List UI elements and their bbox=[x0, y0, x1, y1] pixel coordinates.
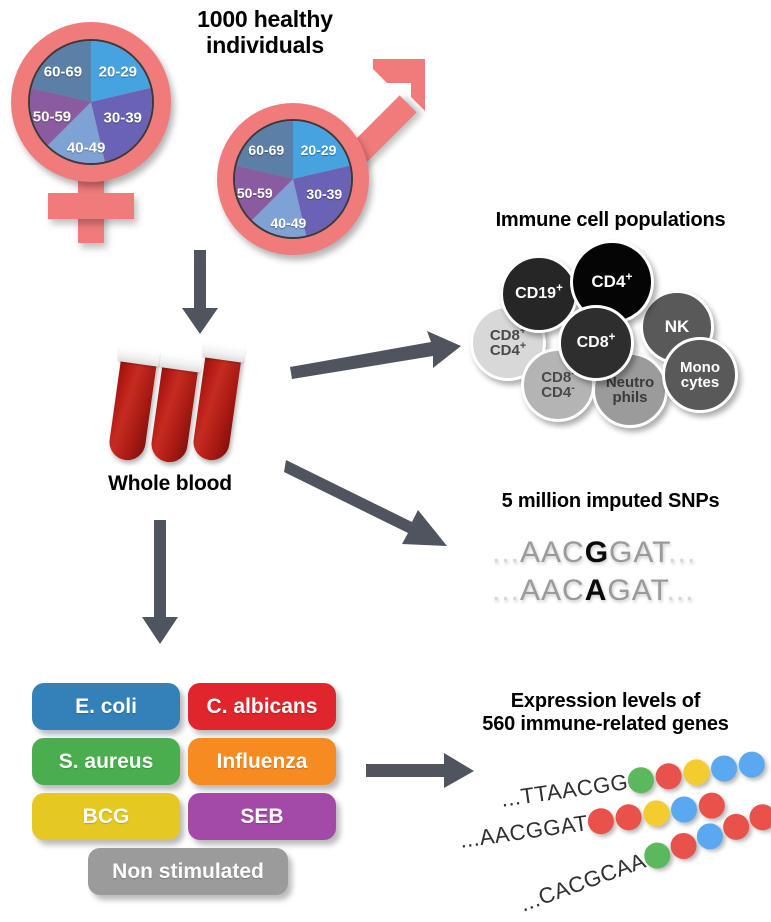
expression-title-line2: 560 immune-related genes bbox=[440, 713, 771, 736]
immune-cell-cd8pos-cd4pos: CD8+CD4+ bbox=[470, 305, 546, 381]
rna-strand-sequence: ...CACGCAA bbox=[516, 848, 649, 918]
immune-cell-label: CD8+CD4+ bbox=[490, 328, 526, 359]
blood-tube-body bbox=[107, 355, 157, 462]
snp-suffix: ... bbox=[667, 574, 695, 607]
rna-bead bbox=[667, 829, 700, 862]
stimulus-non-stimulated[interactable]: Non stimulated bbox=[88, 848, 288, 895]
study-design-figure: 1000 healthy individuals 20-29 30-39 40-… bbox=[0, 0, 771, 922]
stimulus-e-coli[interactable]: E. coli bbox=[32, 683, 180, 730]
rna-bead bbox=[626, 766, 655, 795]
snp-sequence-row: ...AACGGAT... bbox=[492, 536, 696, 570]
snp-prefix: ... bbox=[492, 536, 520, 569]
immune-cell-cd8neg-cd4neg: CD8-CD4- bbox=[521, 348, 595, 422]
arrow-stimuli-to-expression bbox=[366, 753, 476, 789]
immune-cell-label: CD8-CD4- bbox=[541, 370, 575, 401]
arrow-cohort-to-blood bbox=[180, 250, 220, 335]
immune-cell-monocytes: Monocytes bbox=[662, 337, 738, 413]
immune-cell-cd19pos: CD19+ bbox=[500, 255, 578, 333]
rna-bead bbox=[586, 807, 615, 836]
rna-strand-sequence: ...AACGGAT bbox=[458, 810, 590, 854]
rna-bead bbox=[737, 750, 766, 779]
snp-variant-allele: A bbox=[585, 574, 608, 607]
male-age-pie-chart: 20-29 30-39 40-49 50-59 60-69 bbox=[233, 119, 353, 239]
immune-cell-cd8pos: CD8+ bbox=[558, 305, 634, 381]
pie-label-60-69: 60-69 bbox=[44, 63, 82, 80]
snp-right: GAT bbox=[607, 574, 666, 607]
snp-variant-allele: G bbox=[585, 536, 609, 569]
pie-label-50-59: 50-59 bbox=[237, 185, 273, 201]
immune-cell-label: Neutrophils bbox=[606, 375, 654, 406]
pie-label-20-29: 20-29 bbox=[301, 142, 337, 158]
immune-cell-label: NK bbox=[665, 318, 690, 335]
immune-cells-title: Immune cell populations bbox=[450, 209, 771, 232]
snp-suffix: ... bbox=[668, 536, 696, 569]
stimulus-s-aureus[interactable]: S. aureus bbox=[32, 738, 180, 785]
expression-title: Expression levels of 560 immune-related … bbox=[440, 690, 771, 736]
snp-sequence-row: ...AACAGAT... bbox=[492, 574, 695, 608]
stimulus-seb[interactable]: SEB bbox=[188, 793, 336, 840]
snp-right: GAT bbox=[609, 536, 668, 569]
immune-cell-label: CD19+ bbox=[515, 286, 563, 302]
stimulus-influenza[interactable]: Influenza bbox=[188, 738, 336, 785]
pie-label-20-29: 20-29 bbox=[99, 63, 137, 80]
pie-label-50-59: 50-59 bbox=[33, 108, 71, 125]
expression-title-line1: Expression levels of bbox=[440, 690, 771, 713]
rna-bead bbox=[669, 795, 698, 824]
immune-cell-label: CD4+ bbox=[591, 273, 632, 290]
arrow-blood-to-stimuli bbox=[140, 520, 180, 645]
rna-bead bbox=[654, 762, 683, 791]
rna-sequence-text: ...AACGGAT bbox=[458, 810, 590, 853]
immune-cell-cd4pos: CD4+ bbox=[570, 240, 654, 324]
rna-bead bbox=[693, 820, 726, 853]
pie-label-30-39: 30-39 bbox=[306, 186, 342, 202]
rna-bead bbox=[709, 754, 738, 783]
pie-label-40-49: 40-49 bbox=[67, 140, 105, 157]
rna-bead bbox=[746, 801, 771, 834]
female-gender-symbol: 20-29 30-39 40-49 50-59 60-69 bbox=[0, 8, 210, 243]
pie-label-30-39: 30-39 bbox=[104, 109, 142, 126]
snp-left: AAC bbox=[520, 574, 585, 607]
snp-prefix: ... bbox=[492, 574, 520, 607]
blood-tube-body bbox=[149, 361, 198, 464]
whole-blood-label: Whole blood bbox=[80, 472, 260, 496]
rna-bead bbox=[642, 799, 671, 828]
rna-bead bbox=[719, 810, 752, 843]
male-gender-symbol: 20-29 30-39 40-49 50-59 60-69 bbox=[205, 75, 435, 265]
pie-label-60-69: 60-69 bbox=[248, 142, 284, 158]
rna-sequence-text: ...CACGCAA bbox=[516, 848, 649, 917]
rna-strand: ...TTAACGG bbox=[626, 748, 769, 797]
female-symbol-crossbar bbox=[48, 193, 134, 219]
male-symbol-arrowhead bbox=[367, 57, 429, 119]
rna-bead bbox=[682, 758, 711, 787]
immune-cell-label: CD8+ bbox=[577, 335, 616, 351]
arrow-blood-to-immune-cells bbox=[288, 330, 463, 380]
pie-label-40-49: 40-49 bbox=[270, 215, 306, 231]
immune-cell-neutrophils: Neutrophils bbox=[592, 352, 668, 428]
arrow-blood-to-snps bbox=[284, 458, 449, 553]
immune-cell-label: Monocytes bbox=[680, 360, 720, 391]
rna-bead bbox=[614, 803, 643, 832]
snps-title: 5 million imputed SNPs bbox=[450, 490, 771, 513]
snp-left: AAC bbox=[520, 536, 585, 569]
stimulus-c-albicans[interactable]: C. albicans bbox=[188, 683, 336, 730]
stimulus-bcg[interactable]: BCG bbox=[32, 793, 180, 840]
immune-cell-nk: NK bbox=[640, 290, 714, 364]
whole-blood-tubes bbox=[105, 340, 255, 465]
female-age-pie-chart: 20-29 30-39 40-49 50-59 60-69 bbox=[28, 39, 154, 165]
